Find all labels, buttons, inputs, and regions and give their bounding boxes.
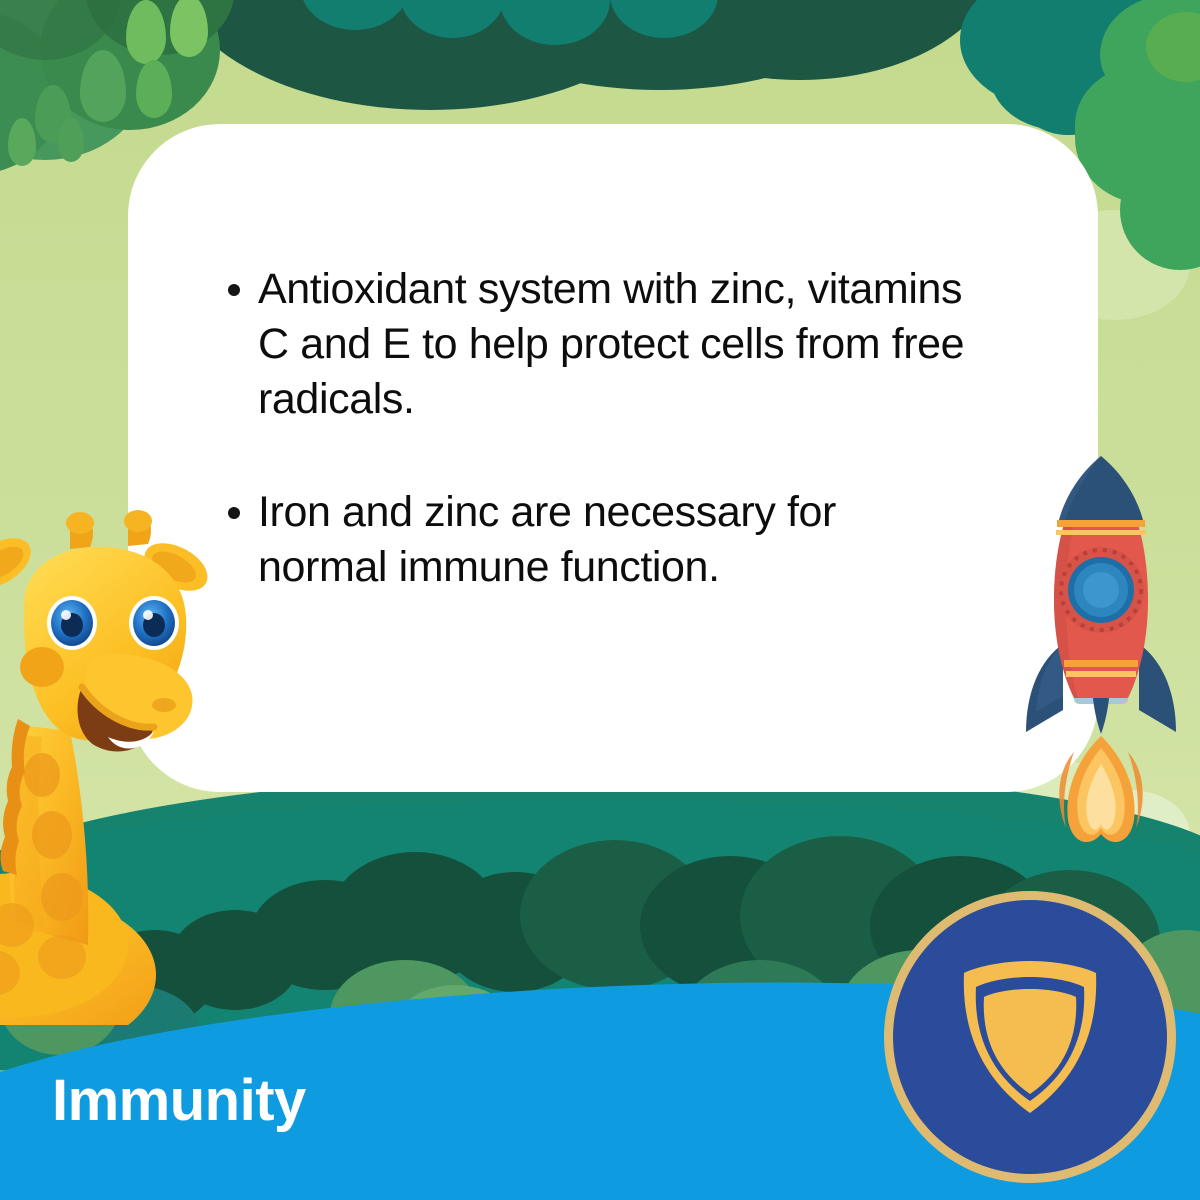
bullet-text-2: Iron and zinc are necessary for normal i…: [258, 485, 968, 595]
bullet-point-icon: [228, 284, 240, 296]
bullet-text-1: Antioxidant system with zinc, vitamins C…: [258, 262, 968, 427]
bullet-list: Antioxidant system with zinc, vitamins C…: [228, 262, 968, 653]
rocket-illustration: [1016, 448, 1186, 848]
immunity-badge[interactable]: [884, 891, 1176, 1183]
list-item: Antioxidant system with zinc, vitamins C…: [228, 262, 968, 427]
shield-icon: [958, 957, 1102, 1117]
list-item: Iron and zinc are necessary for normal i…: [228, 485, 968, 595]
page-title: Immunity: [52, 1067, 306, 1134]
giraffe-mascot: [0, 505, 240, 1025]
slide-canvas: Antioxidant system with zinc, vitamins C…: [0, 0, 1200, 1200]
content-card: Antioxidant system with zinc, vitamins C…: [128, 124, 1098, 792]
